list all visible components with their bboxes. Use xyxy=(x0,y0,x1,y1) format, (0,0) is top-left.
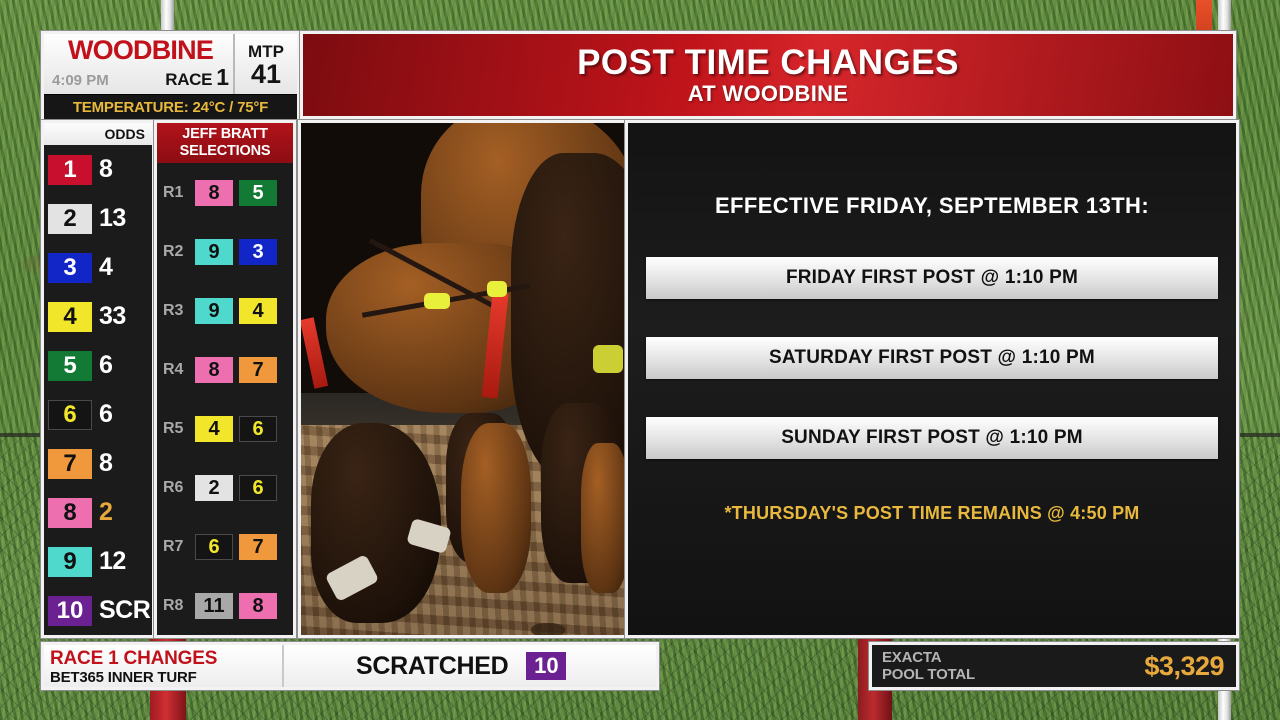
banner-title: POST TIME CHANGES xyxy=(577,44,959,82)
horse-leg xyxy=(461,423,531,593)
odds-row[interactable]: 213 xyxy=(44,194,152,243)
selection-race-label: R3 xyxy=(163,302,189,320)
selection-pick-number: 2 xyxy=(195,475,233,501)
info-board: EFFECTIVE FRIDAY, SEPTEMBER 13TH: FRIDAY… xyxy=(628,123,1236,635)
odds-row[interactable]: 82 xyxy=(44,488,152,537)
odds-value: 8 xyxy=(99,449,112,478)
selection-pick-number: 6 xyxy=(239,475,277,501)
mtp-label: MTP xyxy=(235,42,297,61)
race-video-window[interactable] xyxy=(301,123,626,635)
scratched-horse-badge: 10 xyxy=(526,652,566,680)
saddle-cloth-number: 3 xyxy=(48,253,92,283)
odds-row[interactable]: 66 xyxy=(44,390,152,439)
post-time-bar-saturday: SATURDAY FIRST POST @ 1:10 PM xyxy=(646,337,1218,379)
selection-pick-number: 3 xyxy=(239,239,277,265)
thursday-note: *THURSDAY'S POST TIME REMAINS @ 4:50 PM xyxy=(628,503,1236,524)
saddle-cloth-number: 6 xyxy=(48,400,92,430)
race-label: RACE xyxy=(165,68,212,92)
post-time-bar-sunday: SUNDAY FIRST POST @ 1:10 PM xyxy=(646,417,1218,459)
pool-label-line1: EXACTA xyxy=(882,649,975,666)
odds-value: 13 xyxy=(99,204,126,233)
selection-row[interactable]: R767 xyxy=(157,517,293,576)
horse-leg xyxy=(581,443,626,593)
saddle-cloth-number: 5 xyxy=(48,351,92,381)
odds-value: SCR xyxy=(99,596,150,625)
selection-race-label: R6 xyxy=(163,479,189,497)
track-name: WOODBINE xyxy=(50,35,233,65)
selection-row[interactable]: R293 xyxy=(157,222,293,281)
selection-race-label: R4 xyxy=(163,361,189,379)
yellow-tack xyxy=(487,281,507,297)
track-header-left: WOODBINE 4:09 PM RACE 1 xyxy=(44,34,233,94)
race-changes-title: RACE 1 CHANGES xyxy=(50,649,282,669)
race-changes-subtitle: BET365 INNER TURF xyxy=(50,669,282,686)
selection-pick-number: 7 xyxy=(239,534,277,560)
selections-header-line1: JEFF BRATT xyxy=(157,126,293,143)
selection-pick-number: 11 xyxy=(195,593,233,619)
selection-race-label: R8 xyxy=(163,597,189,615)
dirt-clod xyxy=(531,623,565,635)
odds-row[interactable]: 912 xyxy=(44,537,152,586)
selection-race-label: R7 xyxy=(163,538,189,556)
odds-row[interactable]: 18 xyxy=(44,145,152,194)
race-changes-ticker: RACE 1 CHANGES BET365 INNER TURF SCRATCH… xyxy=(44,645,656,687)
odds-row[interactable]: 34 xyxy=(44,243,152,292)
equipment-marker xyxy=(301,317,328,388)
odds-header: ODDS xyxy=(44,123,152,145)
odds-row[interactable]: 433 xyxy=(44,292,152,341)
selection-pick-number: 4 xyxy=(239,298,277,324)
selection-race-label: R1 xyxy=(163,184,189,202)
selection-row[interactable]: R626 xyxy=(157,458,293,517)
banner-subtitle: AT WOODBINE xyxy=(688,82,849,106)
race-indicator: RACE 1 xyxy=(165,65,229,92)
track-header: WOODBINE 4:09 PM RACE 1 MTP 41 TEMPERATU… xyxy=(44,34,297,119)
race-number: 1 xyxy=(216,65,229,89)
post-time-changes-banner: POST TIME CHANGES AT WOODBINE xyxy=(303,34,1233,116)
selections-row-list: R185R293R394R487R546R626R767R8118 xyxy=(157,163,293,635)
saddle-cloth-number: 8 xyxy=(48,498,92,528)
selection-row[interactable]: R185 xyxy=(157,163,293,222)
exacta-pool-total: EXACTA POOL TOTAL $3,329 xyxy=(872,645,1236,687)
saddle-cloth-number: 2 xyxy=(48,204,92,234)
post-time-bar-friday: FRIDAY FIRST POST @ 1:10 PM xyxy=(646,257,1218,299)
yellow-tack xyxy=(424,293,450,309)
effective-date-heading: EFFECTIVE FRIDAY, SEPTEMBER 13TH: xyxy=(628,193,1236,219)
selection-pick-number: 8 xyxy=(195,180,233,206)
odds-row[interactable]: 10SCR xyxy=(44,586,152,635)
scratched-label: SCRATCHED xyxy=(356,652,508,681)
selections-panel: JEFF BRATT SELECTIONS R185R293R394R487R5… xyxy=(157,123,293,635)
race-changes-block: RACE 1 CHANGES BET365 INNER TURF xyxy=(44,645,284,687)
odds-value: 12 xyxy=(99,547,126,576)
selection-pick-number: 9 xyxy=(195,298,233,324)
selection-pick-number: 8 xyxy=(195,357,233,383)
odds-row-list: 18213344335666788291210SCR xyxy=(44,145,152,635)
odds-value: 4 xyxy=(99,253,112,282)
pool-label-line2: POOL TOTAL xyxy=(882,666,975,683)
selection-row[interactable]: R8118 xyxy=(157,576,293,635)
selection-row[interactable]: R487 xyxy=(157,340,293,399)
selection-pick-number: 6 xyxy=(239,416,277,442)
selections-header: JEFF BRATT SELECTIONS xyxy=(157,123,293,163)
odds-value: 6 xyxy=(99,400,112,429)
mtp-box: MTP 41 xyxy=(233,34,297,94)
mtp-value: 41 xyxy=(235,61,297,87)
odds-row[interactable]: 56 xyxy=(44,341,152,390)
scratched-block: SCRATCHED 10 xyxy=(284,645,656,687)
selection-pick-number: 5 xyxy=(239,180,277,206)
selection-row[interactable]: R546 xyxy=(157,399,293,458)
temperature-readout: TEMPERATURE: 24°C / 75°F xyxy=(44,94,297,119)
selection-pick-number: 4 xyxy=(195,416,233,442)
selection-race-label: R2 xyxy=(163,243,189,261)
selection-row[interactable]: R394 xyxy=(157,281,293,340)
pool-total-value: $3,329 xyxy=(1144,651,1224,682)
saddle-cloth-number: 7 xyxy=(48,449,92,479)
saddle-cloth-number: 10 xyxy=(48,596,92,626)
selection-pick-number: 7 xyxy=(239,357,277,383)
selection-race-label: R5 xyxy=(163,420,189,438)
odds-value: 33 xyxy=(99,302,126,331)
selections-header-line2: SELECTIONS xyxy=(157,143,293,160)
track-header-top: WOODBINE 4:09 PM RACE 1 MTP 41 xyxy=(44,34,297,94)
odds-value: 8 xyxy=(99,155,112,184)
odds-panel: ODDS 18213344335666788291210SCR xyxy=(44,123,152,635)
selection-pick-number: 6 xyxy=(195,534,233,560)
saddle-cloth-number: 4 xyxy=(48,302,92,332)
selection-pick-number: 8 xyxy=(239,593,277,619)
saddle-cloth-number: 1 xyxy=(48,155,92,185)
post-time: 4:09 PM xyxy=(52,69,109,93)
track-header-subrow: 4:09 PM RACE 1 xyxy=(50,65,233,93)
saddle-cloth-number: 9 xyxy=(48,547,92,577)
odds-row[interactable]: 78 xyxy=(44,439,152,488)
selection-pick-number: 9 xyxy=(195,239,233,265)
odds-value: 2 xyxy=(99,498,112,527)
pool-label: EXACTA POOL TOTAL xyxy=(882,649,975,683)
odds-value: 6 xyxy=(99,351,112,380)
yellow-tack xyxy=(593,345,623,373)
